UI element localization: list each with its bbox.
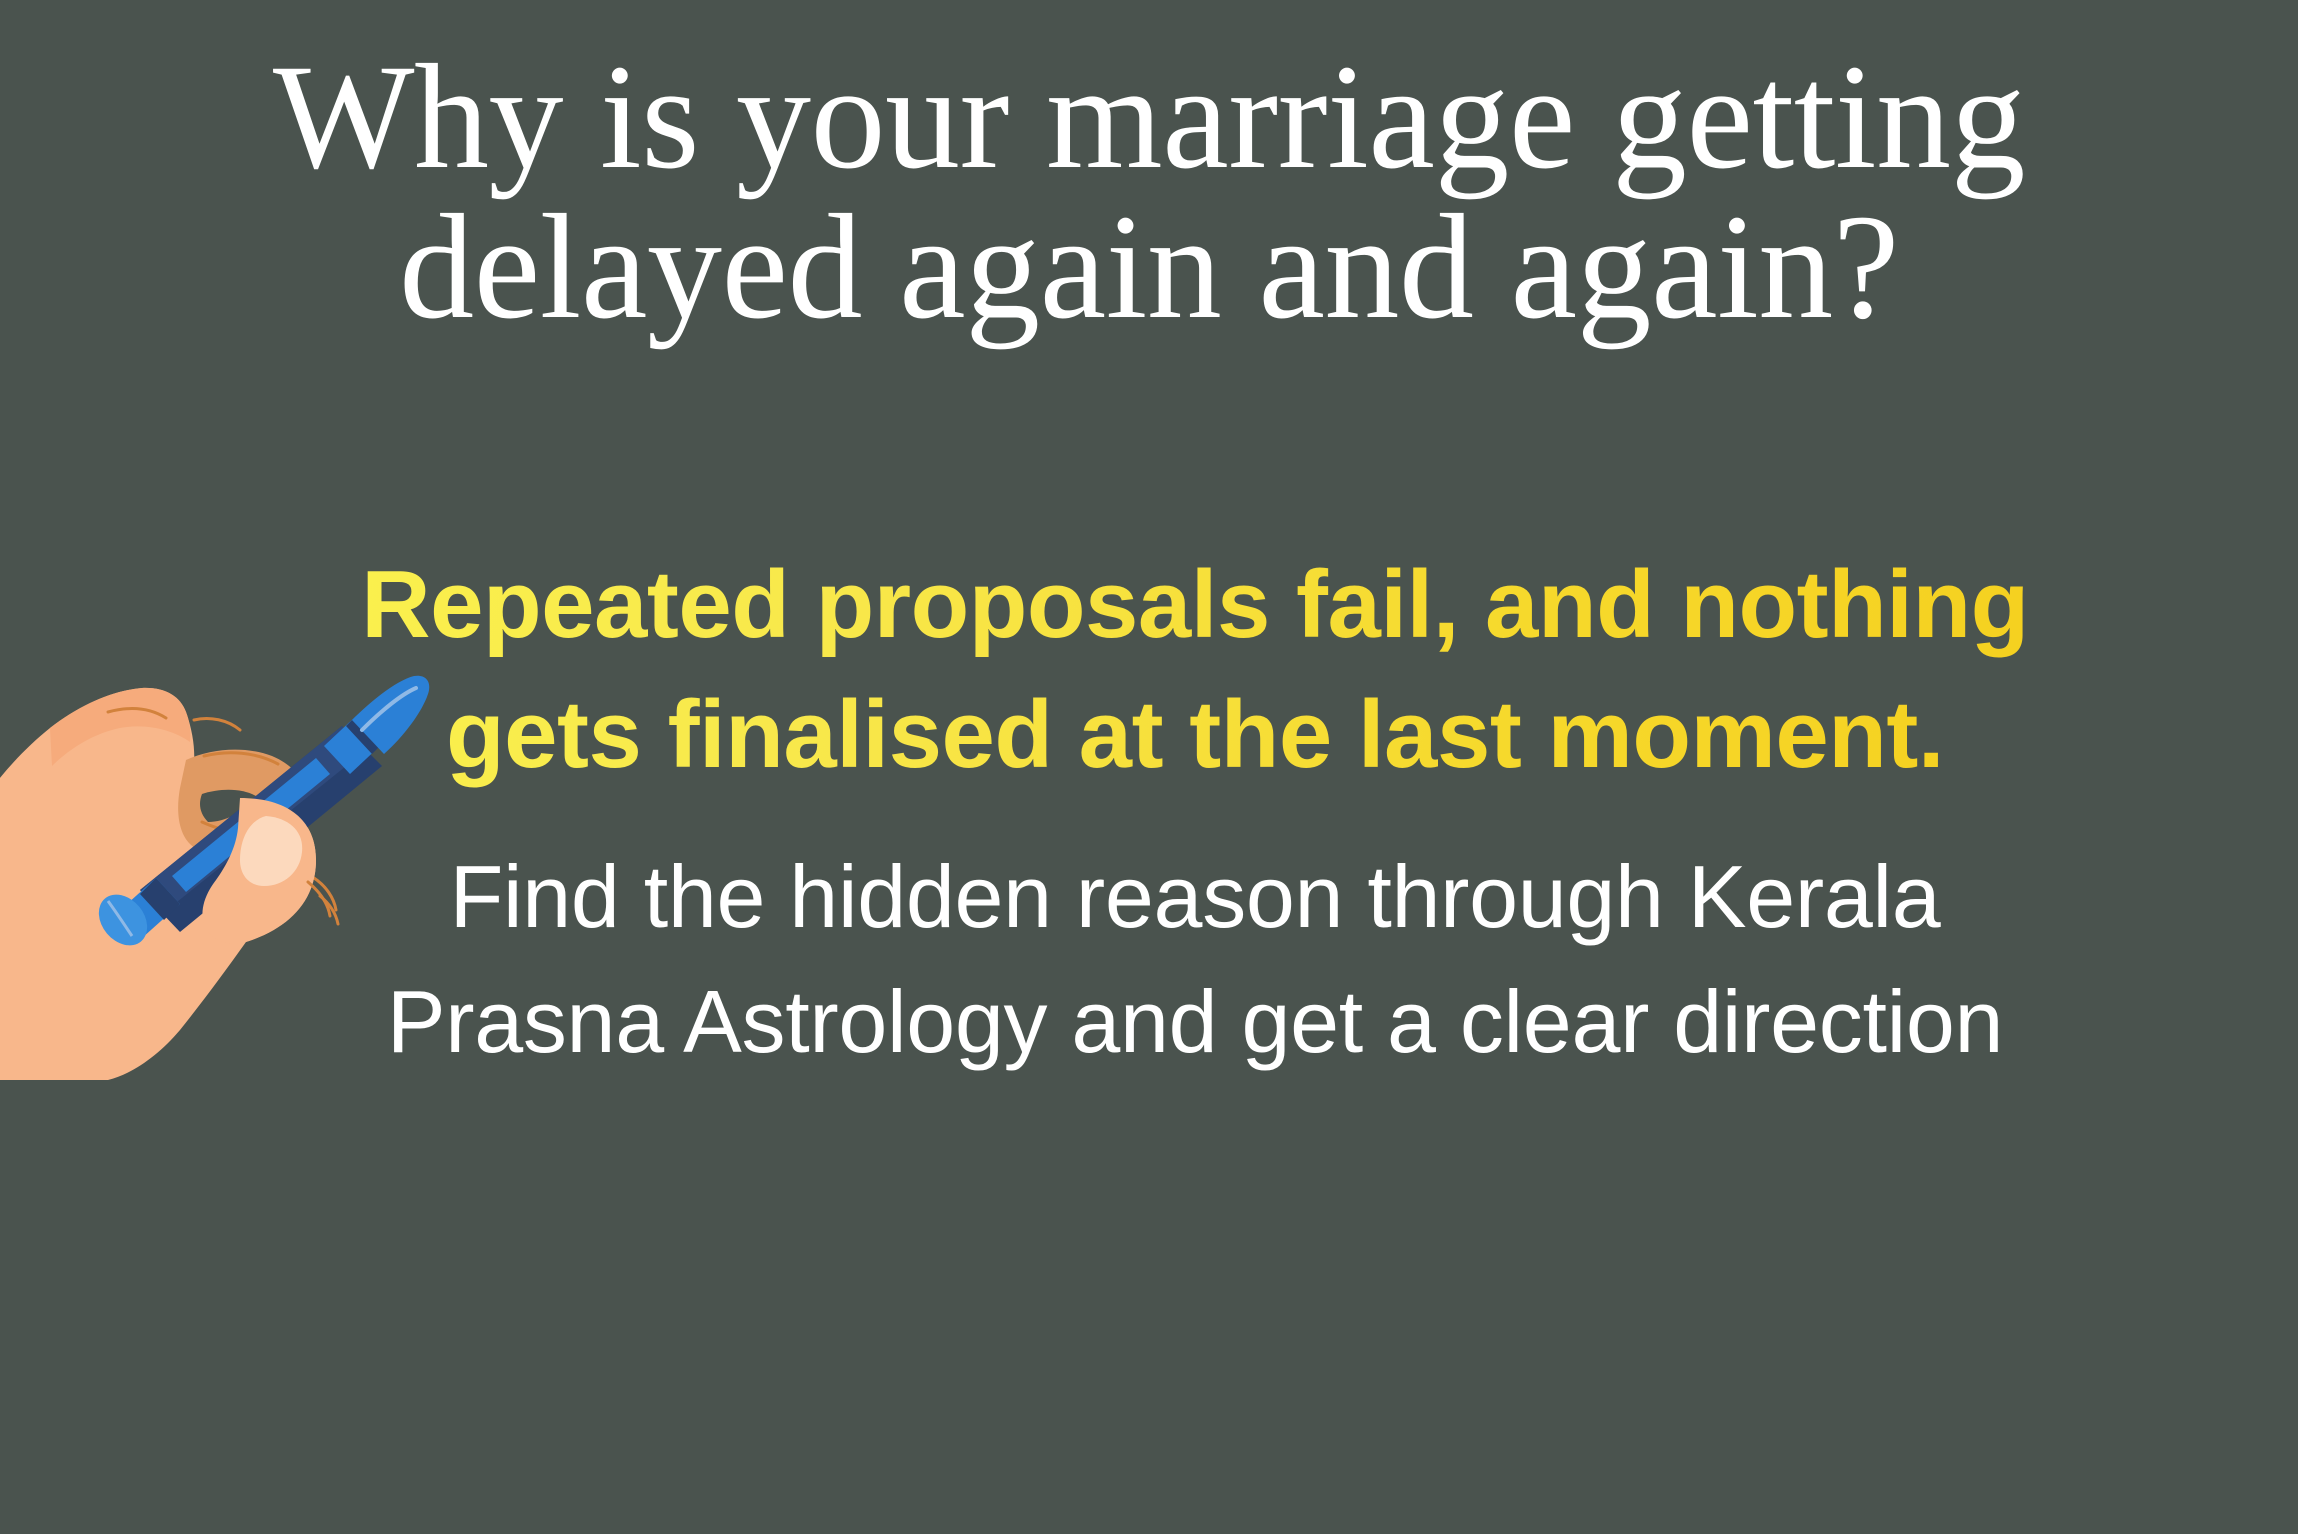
poster-canvas: Why is your marriage getting delayed aga… <box>0 0 2298 1534</box>
page-title: Why is your marriage getting delayed aga… <box>0 42 2298 342</box>
subcopy-text: Find the hidden reason through Kerala Pr… <box>345 835 2045 1085</box>
headline-line-2: delayed again and again? <box>0 192 2298 342</box>
headline-line-1: Why is your marriage getting <box>0 42 2298 192</box>
body-copy: Repeated proposals fail, and nothing get… <box>345 540 2045 1085</box>
emphasis-text: Repeated proposals fail, and nothing get… <box>345 540 2045 799</box>
